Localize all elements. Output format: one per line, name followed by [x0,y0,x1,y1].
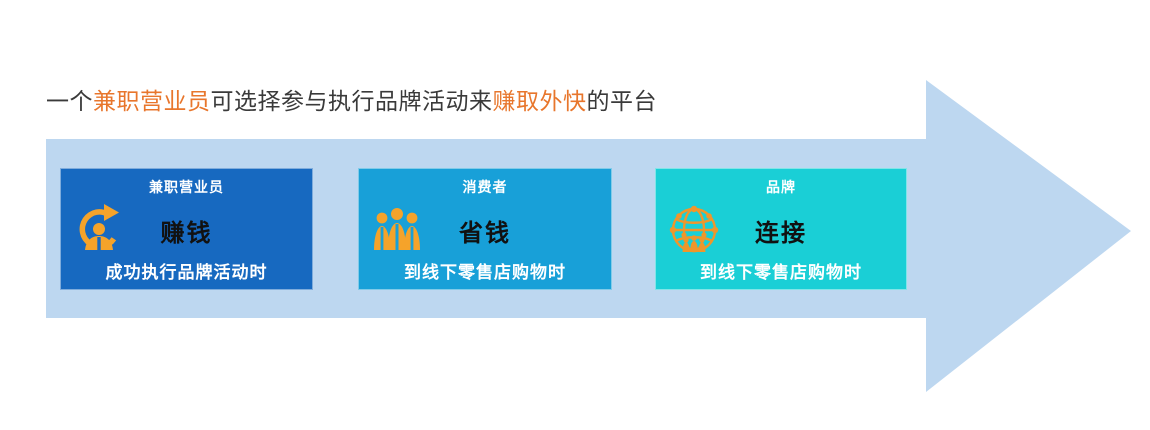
headline-seg-2: 可选择参与执行品牌活动来 [211,89,493,114]
card-title: 消费者 [359,177,611,197]
card-title: 兼职营业员 [61,177,312,197]
card-caption: 成功执行品牌活动时 [61,258,312,283]
card-part-time-clerk[interactable]: 兼职营业员 赚钱 成功执行品牌活动时 [60,168,313,290]
page-title: 一个兼职营业员可选择参与执行品牌活动来赚取外快的平台 [46,86,657,118]
card-brand[interactable]: 品牌 连接 到线下零售店购物时 [655,168,907,290]
headline-seg-3: 赚取外快 [493,89,587,114]
headline-seg-0: 一个 [46,89,93,114]
headline-seg-1: 兼职营业员 [93,89,211,114]
card-main-label: 省钱 [359,213,611,248]
diagram-canvas: 一个兼职营业员可选择参与执行品牌活动来赚取外快的平台 兼职营业员 赚钱 成功执行… [0,0,1150,430]
headline-seg-4: 的平台 [587,89,658,114]
card-title: 品牌 [656,177,906,197]
card-row: 兼职营业员 赚钱 成功执行品牌活动时 [60,168,910,290]
card-main-label: 赚钱 [61,213,312,248]
card-caption: 到线下零售店购物时 [359,258,611,283]
card-main-label: 连接 [656,213,906,248]
card-caption: 到线下零售店购物时 [656,258,906,283]
card-consumer[interactable]: 消费者 省钱 到线下零售店购物时 [358,168,612,290]
